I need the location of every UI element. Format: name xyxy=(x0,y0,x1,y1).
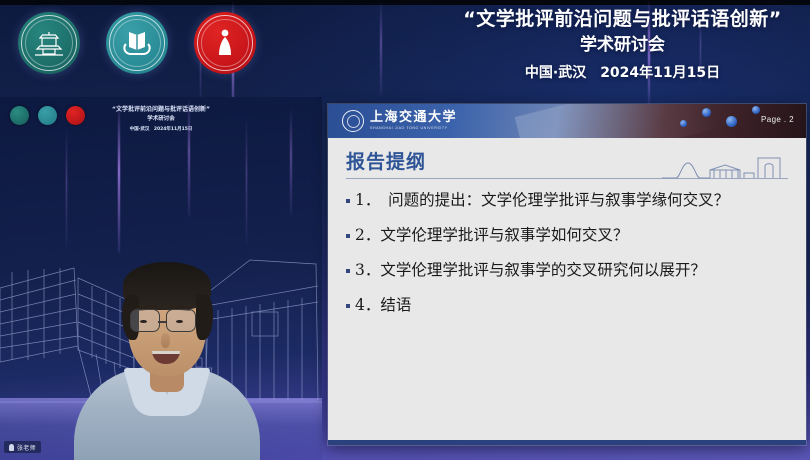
slide-university-name-en: SHANGHAI JIAO TONG UNIVERSITY xyxy=(370,125,457,131)
presentation-slide[interactable]: 上海交通大学 SHANGHAI JIAO TONG UNIVERSITY Pag… xyxy=(328,104,806,445)
banner-sheen xyxy=(515,104,724,138)
bullet-text: 1． 问题的提出：文学伦理学批评与叙事学缘何交叉？ xyxy=(355,188,788,213)
participant-glasses-bridge xyxy=(158,321,166,323)
slide-page-number: Page . 2 xyxy=(761,115,794,124)
pagoda-university-logo-icon xyxy=(18,12,80,74)
slide-bullet-item: 4．结语 xyxy=(346,293,788,318)
open-book-hands-glyph-icon xyxy=(120,28,154,58)
slide-body: 报告提纲 1． 问题的提出：文学伦 xyxy=(328,138,806,445)
banner-dot xyxy=(752,106,760,114)
bullet-text: 4．结语 xyxy=(355,293,788,318)
participant-eye-left xyxy=(140,320,147,323)
vbg-title-line2: 学术研讨会 xyxy=(0,115,322,124)
banner-dot xyxy=(702,108,711,117)
bullet-text: 2．文学伦理学批评与叙事学如何交叉？ xyxy=(355,223,788,248)
slide-university-logo: 上海交通大学 SHANGHAI JIAO TONG UNIVERSITY xyxy=(342,110,457,132)
slide-footer-bar xyxy=(328,440,806,445)
torch-figure-glyph-icon xyxy=(210,26,240,60)
campus-skyline-icon xyxy=(662,155,784,179)
participant-person xyxy=(92,208,242,460)
book-hands-university-logo-icon xyxy=(106,12,168,74)
vbg-location-date: 中国·武汉 2024年11月15日 xyxy=(0,125,322,134)
banner-dot xyxy=(680,120,687,127)
vbg-light-beam xyxy=(246,115,247,245)
slide-header-banner: 上海交通大学 SHANGHAI JIAO TONG UNIVERSITY Pag… xyxy=(328,104,806,138)
pagoda-glyph-icon xyxy=(32,29,66,57)
slide-bullet-item: 2．文学伦理学批评与叙事学如何交叉？ xyxy=(346,223,788,248)
bullet-text: 3．文学伦理学批评与叙事学的交叉研究何以展开？ xyxy=(355,258,788,283)
bullet-marker-icon xyxy=(346,234,350,238)
bullet-marker-icon xyxy=(346,304,350,308)
vbg-title-line1: “文学批评前沿问题与批评话语创新” xyxy=(0,105,322,115)
banner-dot xyxy=(726,116,737,127)
slide-university-name-cn: 上海交通大学 xyxy=(370,111,457,125)
slide-bullet-list: 1． 问题的提出：文学伦理学批评与叙事学缘何交叉？ 2．文学伦理学批评与叙事学如… xyxy=(346,188,788,318)
vbg-light-beam xyxy=(66,127,67,247)
light-beam xyxy=(380,0,382,96)
conference-header: “文学批评前沿问题与批评话语创新” 学术研讨会 中国·武汉 2024年11月15… xyxy=(440,6,805,84)
conference-title-line2: 学术研讨会 xyxy=(440,33,805,58)
slide-bullet-item: 3．文学伦理学批评与叙事学的交叉研究何以展开？ xyxy=(346,258,788,283)
video-conference-stage: “文学批评前沿问题与批评话语创新” 学术研讨会 中国·武汉 2024年11月15… xyxy=(0,0,810,460)
participant-name-badge: 张老师 xyxy=(4,441,41,453)
slide-title-rule xyxy=(346,178,788,179)
conference-location-date: 中国·武汉 2024年11月15日 xyxy=(440,62,805,84)
conference-title-line1: “文学批评前沿问题与批评话语创新” xyxy=(440,6,805,32)
conference-logo-row xyxy=(18,12,256,74)
participant-name-label: 张老师 xyxy=(17,443,36,452)
participant-eye-right xyxy=(176,320,183,323)
top-black-strip xyxy=(0,0,810,5)
slide-bullet-item: 1． 问题的提出：文学伦理学批评与叙事学缘何交叉？ xyxy=(346,188,788,213)
virtual-background-title: “文学批评前沿问题与批评话语创新” 学术研讨会 中国·武汉 2024年11月15… xyxy=(0,105,322,134)
red-university-logo-icon xyxy=(194,12,256,74)
participant-video-tile[interactable]: “文学批评前沿问题与批评话语创新” 学术研讨会 中国·武汉 2024年11月15… xyxy=(0,97,322,460)
participant-hair-right xyxy=(196,294,213,340)
university-seal-icon xyxy=(342,110,364,132)
bullet-marker-icon xyxy=(346,199,350,203)
bullet-marker-icon xyxy=(346,269,350,273)
microphone-icon xyxy=(9,444,14,451)
participant-nose xyxy=(161,333,170,348)
